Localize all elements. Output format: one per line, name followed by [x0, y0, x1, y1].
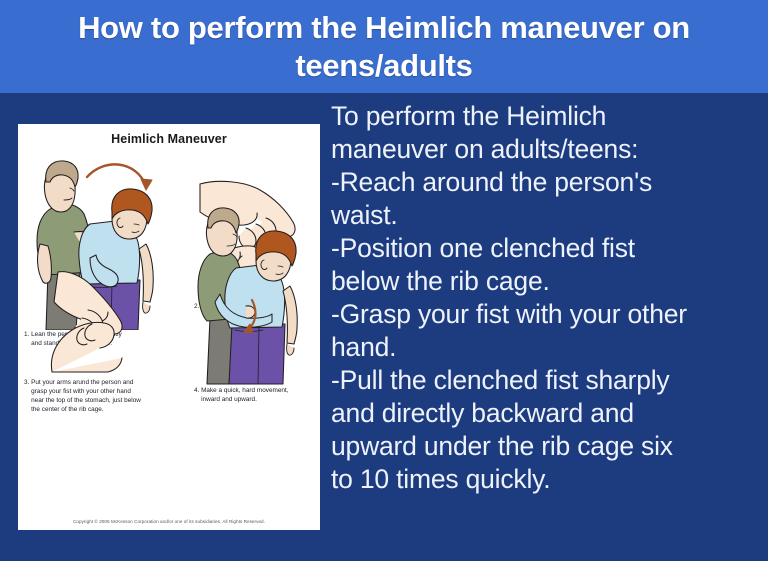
instruction-line: waist.: [331, 199, 763, 232]
figure-panel-4: 4. Make a quick, hard movement, inward a…: [194, 206, 318, 436]
two-hands-grasping-fist-icon: [24, 266, 192, 378]
instruction-line: -Pull the clenched fist sharply: [331, 364, 763, 397]
instruction-line: -Reach around the person's: [331, 166, 763, 199]
figure-title: Heimlich Maneuver: [18, 132, 320, 146]
page-title: How to perform the Heimlich maneuver on …: [0, 9, 768, 85]
instruction-line: upward under the rib cage six: [331, 430, 763, 463]
rescuer-thrusting-icon: [194, 206, 318, 386]
instruction-line: and directly backward and: [331, 397, 763, 430]
slide-body: Heimlich Maneuver: [0, 93, 768, 561]
slide-root: How to perform the Heimlich maneuver on …: [0, 0, 768, 561]
instruction-line: maneuver on adults/teens:: [331, 133, 763, 166]
instruction-line: -Grasp your fist with your other: [331, 298, 763, 331]
figure-copyright: Copyright © 2005 McKesson Corporation an…: [18, 519, 320, 524]
instruction-line: to 10 times quickly.: [331, 463, 763, 496]
instruction-line: hand.: [331, 331, 763, 364]
heimlich-illustration-card: Heimlich Maneuver: [18, 124, 320, 530]
figure-panel-3-caption: 3. Put your arms arund the person and gr…: [24, 378, 192, 414]
figure-panel-3: 3. Put your arms arund the person and gr…: [24, 266, 192, 488]
instruction-line: -Position one clenched fist: [331, 232, 763, 265]
figure-panel-4-caption: 4. Make a quick, hard movement, inward a…: [194, 386, 318, 404]
instruction-line: below the rib cage.: [331, 265, 763, 298]
figure-panels: 1. Lean the person forward slightly and …: [18, 146, 320, 506]
instruction-line: To perform the Heimlich: [331, 100, 763, 133]
slide-title-banner: How to perform the Heimlich maneuver on …: [0, 0, 768, 93]
instructions-text: To perform the Heimlich maneuver on adul…: [331, 100, 763, 496]
